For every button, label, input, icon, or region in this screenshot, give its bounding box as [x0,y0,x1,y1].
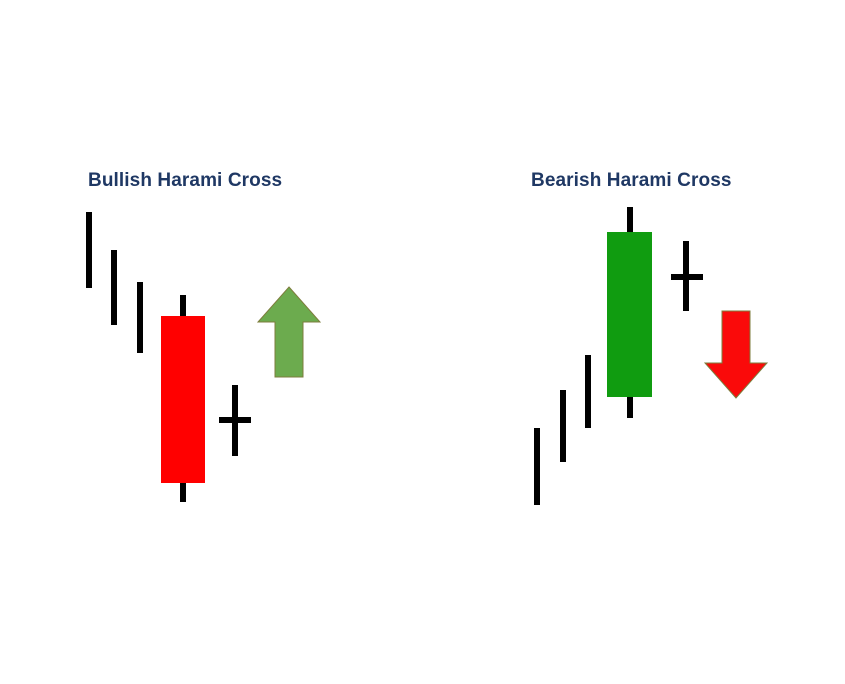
diagram-canvas: Bullish Harami Cross Bearish Harami Cros… [0,0,845,684]
candle-upper-wick [627,207,633,235]
bearish-trend-bar-2 [560,390,566,462]
candle-body-bearish [161,316,205,483]
doji-horizontal-body [671,274,703,280]
bullish-signal-up-arrow-icon [258,287,320,377]
doji-vertical-wick [232,385,238,456]
candle-body-bullish [607,232,652,397]
bearish-signal-down-arrow-icon [705,311,767,398]
bullish-trend-bar-2 [111,250,117,325]
panel-title-bearish-harami-cross: Bearish Harami Cross [531,170,732,192]
doji-horizontal-body [219,417,251,423]
candlestick-diagram [0,0,845,684]
doji-vertical-wick [683,241,689,311]
bullish-panel-doji-cross [219,385,251,456]
panel-title-bullish-harami-cross: Bullish Harami Cross [88,170,282,192]
bearish-panel-long-bullish-candle [607,207,652,418]
bullish-panel-long-bearish-candle [161,295,205,502]
candle-upper-wick [180,295,186,319]
bearish-panel-doji-cross [671,241,703,311]
panel-bullish-harami-cross [86,212,320,502]
candle-lower-wick [180,478,186,502]
bullish-trend-bar-1 [86,212,92,288]
candle-lower-wick [627,393,633,418]
panel-bearish-harami-cross [534,207,767,505]
bearish-trend-bar-3 [585,355,591,428]
bearish-trend-bar-1 [534,428,540,505]
bullish-trend-bar-3 [137,282,143,353]
